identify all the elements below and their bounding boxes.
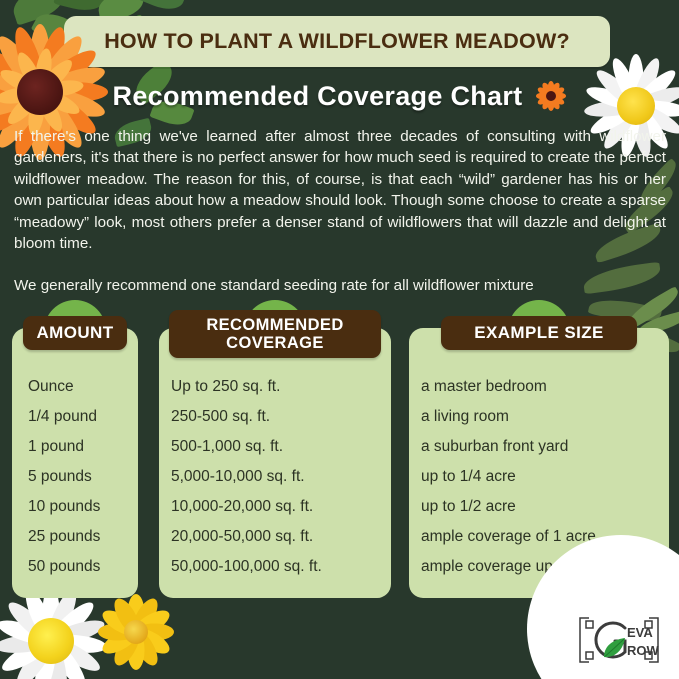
logo-mark: EVA ROW: [573, 611, 665, 669]
list-item: 20,000-50,000 sq. ft.: [171, 522, 403, 552]
list-item: 500-1,000 sq. ft.: [171, 432, 403, 462]
column-amount-header: AMOUNT: [23, 316, 127, 350]
flower-center: [124, 620, 148, 644]
list-item: 50 pounds: [28, 552, 154, 582]
list-item: 5,000-10,000 sq. ft.: [171, 462, 403, 492]
logo-line-1: EVA: [627, 625, 653, 640]
body-paragraph-1: If there's one thing we've learned after…: [14, 126, 666, 254]
column-example-size-header: EXAMPLE SIZE: [441, 316, 637, 350]
yellow-coreopsis-flower: [92, 588, 180, 676]
page-title: HOW TO PLANT A WILDFLOWER MEADOW?: [104, 29, 570, 54]
list-item: a master bedroom: [421, 372, 679, 402]
logo-line-2: ROW: [627, 643, 660, 658]
column-recommended-coverage-header: RECOMMENDED COVERAGE: [169, 310, 381, 358]
list-item: Up to 250 sq. ft.: [171, 372, 403, 402]
list-item: a living room: [421, 402, 679, 432]
flower-center: [17, 69, 63, 115]
list-item: 1/4 pound: [28, 402, 154, 432]
flower-center: [28, 618, 74, 664]
page-subtitle: Recommended Coverage Chart: [113, 81, 523, 112]
list-item: 1 pound: [28, 432, 154, 462]
list-item: 10 pounds: [28, 492, 154, 522]
list-item: up to 1/2 acre: [421, 492, 679, 522]
body-paragraph-2: We generally recommend one standard seed…: [14, 275, 666, 296]
eva-grow-logo: EVA ROW: [573, 611, 665, 669]
flower-center: [617, 87, 655, 125]
flower-center: [546, 91, 556, 101]
column-recommended-coverage-list: Up to 250 sq. ft. 250-500 sq. ft. 500-1,…: [159, 372, 403, 582]
list-item: 250-500 sq. ft.: [171, 402, 403, 432]
body-copy: If there's one thing we've learned after…: [14, 126, 666, 297]
list-item: a suburban front yard: [421, 432, 679, 462]
list-item: up to 1/4 acre: [421, 462, 679, 492]
column-amount-list: Ounce 1/4 pound 1 pound 5 pounds 10 poun…: [12, 372, 154, 582]
column-recommended-coverage-header-label: RECOMMENDED COVERAGE: [169, 316, 381, 352]
list-item: 10,000-20,000 sq. ft.: [171, 492, 403, 522]
list-item: Ounce: [28, 372, 154, 402]
column-example-size-header-label: EXAMPLE SIZE: [474, 324, 604, 342]
list-item: 50,000-100,000 sq. ft.: [171, 552, 403, 582]
list-item: 5 pounds: [28, 462, 154, 492]
list-item: 25 pounds: [28, 522, 154, 552]
infographic-root: HOW TO PLANT A WILDFLOWER MEADOW? Recomm…: [0, 0, 679, 679]
column-amount-header-label: AMOUNT: [37, 324, 114, 342]
small-orange-flower-icon: [536, 81, 566, 111]
title-banner: HOW TO PLANT A WILDFLOWER MEADOW?: [64, 16, 610, 67]
